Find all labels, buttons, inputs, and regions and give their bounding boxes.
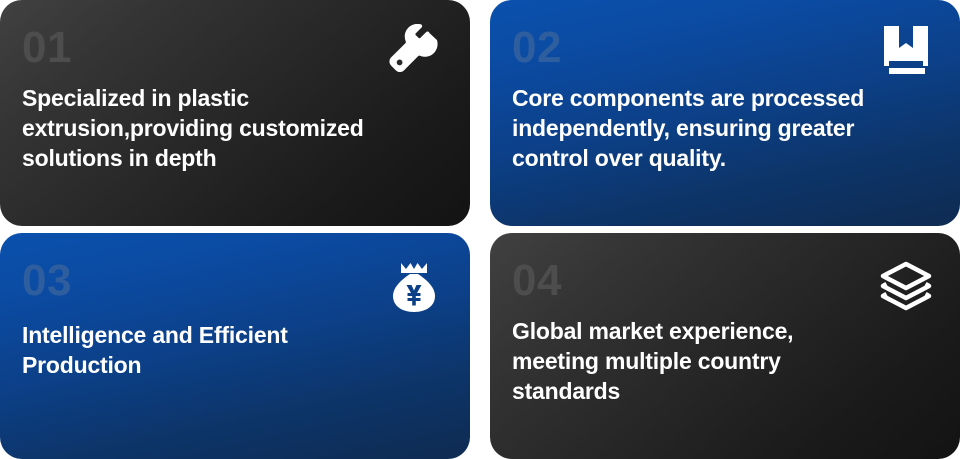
card-title-02: Core components are processed independen…: [512, 84, 930, 174]
feature-card-03[interactable]: 03 Intelligence and Efficient Production: [0, 233, 470, 459]
feature-card-02[interactable]: 02 Core components are processed indepen…: [490, 0, 960, 226]
wrench-icon: [384, 22, 440, 78]
layers-stack-icon: [878, 259, 934, 315]
card-title-04: Global market experience, meeting multip…: [512, 317, 912, 407]
card-number-04: 04: [512, 259, 930, 303]
card-number-01: 01: [22, 26, 440, 70]
card-title-03: Intelligence and Efficient Production: [22, 321, 440, 381]
card-title-01: Specialized in plastic extrusion,providi…: [22, 84, 440, 174]
feature-card-01[interactable]: 01 Specialized in plastic extrusion,prov…: [0, 0, 470, 226]
feature-cards-grid: 01 Specialized in plastic extrusion,prov…: [0, 0, 960, 459]
book-bookmark-icon: [878, 22, 934, 78]
feature-card-04[interactable]: 04 Global market experience, meeting mul…: [490, 233, 960, 459]
card-number-02: 02: [512, 26, 930, 70]
card-number-03: 03: [22, 259, 440, 303]
money-bag-yen-icon: [386, 259, 442, 315]
